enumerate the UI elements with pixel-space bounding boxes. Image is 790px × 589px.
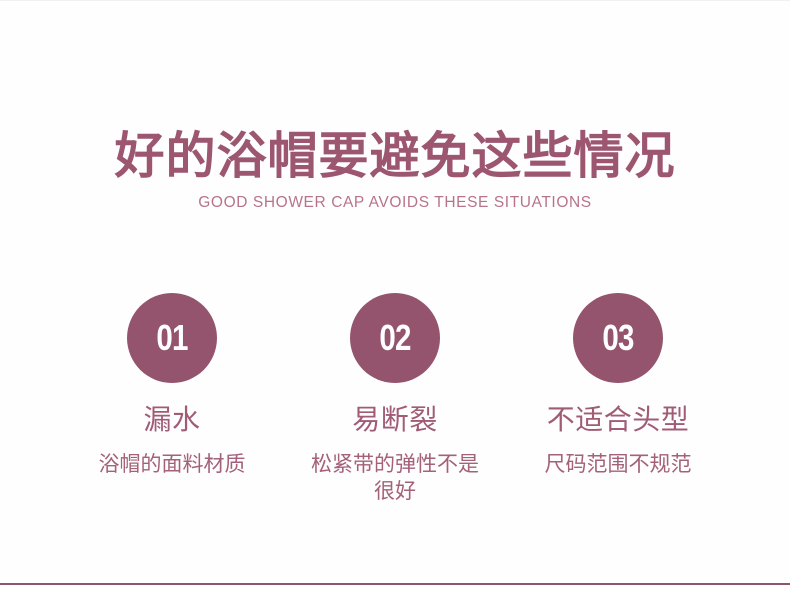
reasons-list: 01 漏水 浴帽的面料材质 02 易断裂 松紧带的弹性不是很好 03 不适合头型… bbox=[0, 293, 790, 505]
badge-number-label: 03 bbox=[602, 320, 633, 356]
item-title: 漏水 bbox=[143, 404, 200, 436]
infographic-page: 好的浴帽要避免这些情况 GOOD SHOWER CAP AVOIDS THESE… bbox=[0, 0, 790, 589]
number-badge-01: 01 bbox=[127, 293, 217, 383]
item-description: 浴帽的面料材质 bbox=[99, 451, 246, 478]
badge-number-label: 01 bbox=[156, 320, 187, 356]
number-badge-02: 02 bbox=[350, 293, 440, 383]
badge-number-label: 02 bbox=[379, 320, 410, 356]
footer-divider bbox=[0, 583, 790, 585]
list-item: 01 漏水 浴帽的面料材质 bbox=[61, 293, 284, 478]
list-item: 03 不适合头型 尺码范围不规范 bbox=[507, 293, 730, 478]
page-title: 好的浴帽要避免这些情况 bbox=[0, 127, 790, 185]
item-title: 易断裂 bbox=[352, 404, 438, 436]
page-subtitle: GOOD SHOWER CAP AVOIDS THESE SITUATIONS bbox=[0, 193, 790, 213]
number-badge-03: 03 bbox=[573, 293, 663, 383]
header: 好的浴帽要避免这些情况 GOOD SHOWER CAP AVOIDS THESE… bbox=[0, 127, 790, 213]
list-item: 02 易断裂 松紧带的弹性不是很好 bbox=[284, 293, 507, 505]
item-title: 不适合头型 bbox=[547, 404, 690, 436]
item-description: 松紧带的弹性不是很好 bbox=[310, 451, 480, 505]
item-description: 尺码范围不规范 bbox=[545, 451, 692, 478]
